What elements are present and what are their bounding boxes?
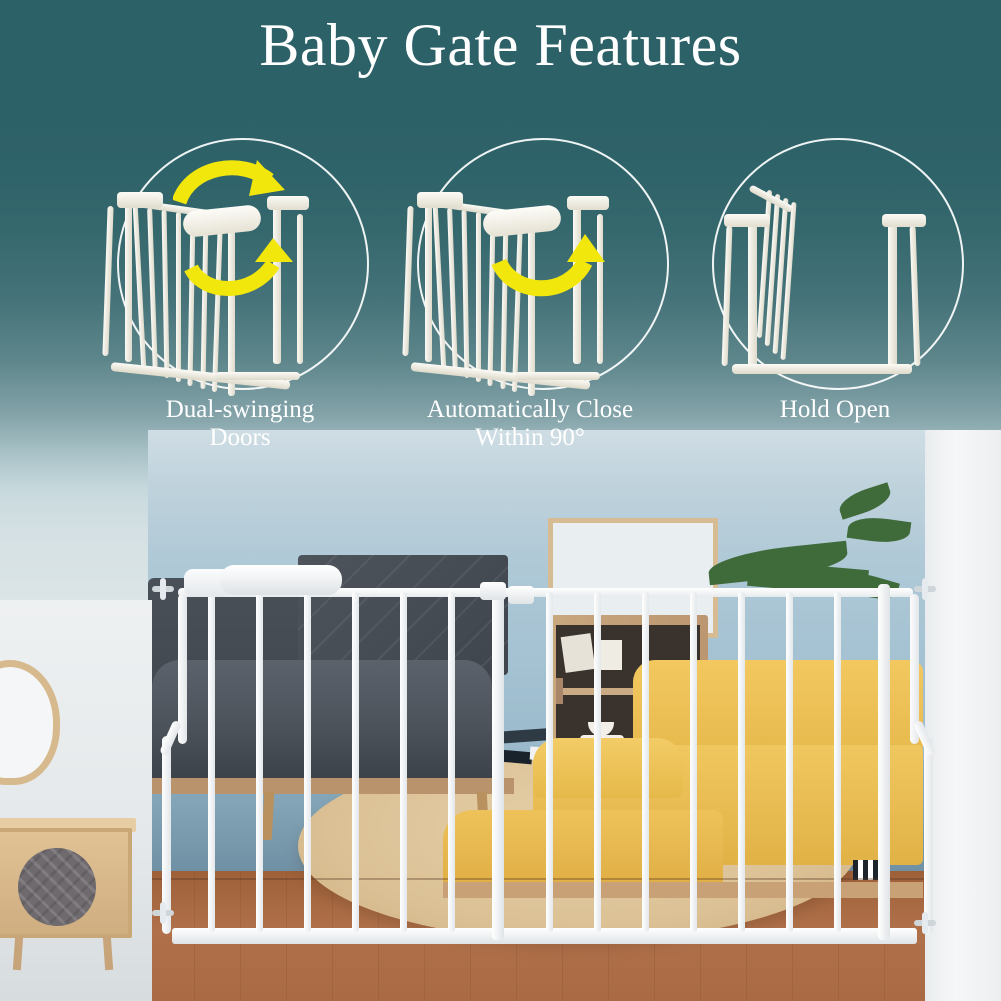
mini-gate-bar [133,206,146,368]
gate-bar [208,592,215,932]
mini-gate-left-bracket [117,192,163,208]
swing-arrow-top-icon [173,156,293,216]
mini-gate-left-frame [402,206,413,356]
gate-handle[interactable] [220,565,342,595]
mini-gate-bar [162,210,170,378]
mini-gate-right-frame [910,226,921,366]
mini-gate-left-frame [722,226,733,366]
feature-label-automatically-close: Automatically Close Within 90° [385,396,675,452]
gate-bar [352,592,359,932]
mini-gate-right-bracket [882,214,926,227]
wall-mount-screw [914,578,936,600]
swing-arrow-bottom-icon [181,238,301,298]
gate-bar [304,592,311,932]
mini-gate-left-frame [102,206,113,356]
mini-gate-left-bracket [724,214,770,227]
wall-mount-screw [152,902,174,924]
product-infographic: Baby Gate Features [0,0,1001,1001]
auto-close-arrow-icon [491,234,621,304]
page-title: Baby Gate Features [0,14,1001,77]
baby-gate-hold-open-illustration [690,176,980,391]
gate-bar [690,592,697,932]
feature-label-dual-swinging-doors: Dual-swinging Doors [95,396,385,452]
gate-bottom-rail [172,928,917,944]
mini-gate-left-bracket [417,192,463,208]
cabinet-round-panel [18,848,96,926]
mini-gate-bar [433,206,446,368]
feature-label-hold-open: Hold Open [690,396,980,424]
gate-bar [400,592,407,932]
mini-gate-bottom-rail [732,364,912,374]
gate-hinge [508,586,534,604]
feature-label-line1: Automatically Close [427,396,633,423]
mini-gate-bar [476,212,481,382]
gate-bar [738,592,745,932]
mini-gate-base-rail [515,372,600,380]
gate-bar [834,592,841,932]
gate-bar [594,592,601,932]
feature-label-line1: Hold Open [780,396,890,423]
gate-center-post [492,584,504,940]
gate-right-frame-lower [924,736,933,934]
mini-gate-door-edge [125,202,132,362]
mini-gate-right-bracket [567,196,609,210]
mini-gate-left-post [748,220,757,370]
wall-mount-screw [914,912,936,934]
gate-bar [786,592,793,932]
gate-bar [642,592,649,932]
gate-hinge [480,582,506,600]
mini-gate-bar [147,208,158,373]
baby-gate-product [148,560,938,980]
gate-bar [256,592,263,932]
wall-mount-screw [152,578,174,600]
gate-bar [546,592,553,932]
mini-gate-bar [462,210,470,378]
feature-label-line2: Within 90° [475,424,585,451]
feature-label-line1: Dual-swinging [166,396,315,423]
mini-gate-door-edge [425,202,432,362]
mini-gate-bar [447,208,458,373]
mini-gate-base-rail [215,372,300,380]
gate-right-post [878,584,890,940]
feature-label-line2: Doors [209,424,270,451]
gate-bar [448,592,455,932]
mini-gate-right-post [888,220,897,370]
